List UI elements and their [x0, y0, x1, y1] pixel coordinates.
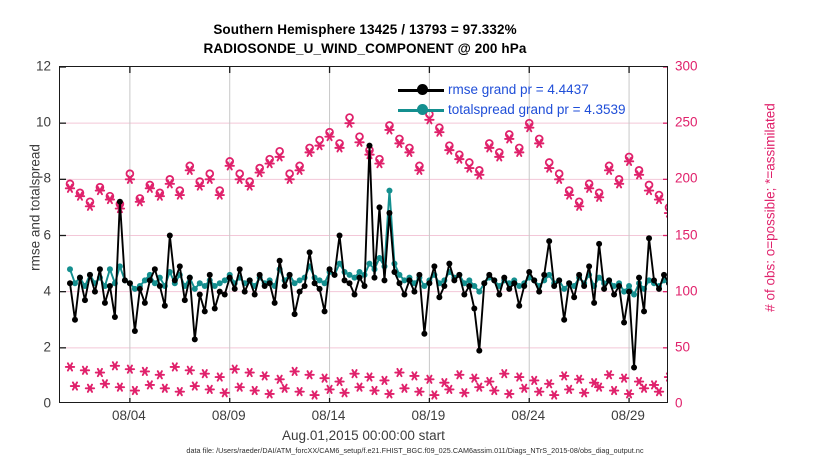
- x-tick-label: 08/24: [493, 408, 563, 423]
- x-axis-tick-labels: 08/0408/0908/1408/1908/2408/29: [59, 408, 668, 428]
- chart-title-line-2: RADIOSONDE_U_WIND_COMPONENT @ 200 hPa: [0, 41, 730, 56]
- data-file-caption: data file: /Users/raeder/DAI/ATM_forcXX/…: [0, 446, 830, 455]
- y2-tick-label: 100: [675, 283, 721, 298]
- x-tick-label: 08/04: [94, 408, 164, 423]
- y2-axis-label: # of obs: o=possible; *=assimilated: [763, 43, 778, 373]
- y2-tick-label: 200: [675, 171, 721, 186]
- y2-tick-label: 150: [675, 227, 721, 242]
- x-tick-label: 08/09: [194, 408, 264, 423]
- legend-item[interactable]: rmse grand pr = 4.4437: [396, 80, 658, 99]
- legend-label: totalspread grand pr = 4.3539: [448, 100, 626, 119]
- y-tick-label: 12: [11, 59, 51, 74]
- legend-item[interactable]: totalspread grand pr = 4.3539: [396, 100, 658, 119]
- legend-marker-icon: [417, 84, 428, 95]
- y2-tick-label: 300: [675, 59, 721, 74]
- y-tick-label: 0: [11, 396, 51, 411]
- y2-tick-label: 250: [675, 115, 721, 130]
- chart-screenshot: Southern Hemisphere 13425 / 13793 = 97.3…: [0, 0, 830, 470]
- y-axis-label: rmse and totalspread: [28, 78, 43, 338]
- chart-title-line-1: Southern Hemisphere 13425 / 13793 = 97.3…: [0, 22, 730, 37]
- x-tick-label: 08/14: [294, 408, 364, 423]
- y2-tick-label: 0: [675, 396, 721, 411]
- x-tick-label: 08/29: [593, 408, 663, 423]
- legend: rmse grand pr = 4.4437totalspread grand …: [396, 80, 658, 120]
- y-tick-label: 2: [11, 339, 51, 354]
- y2-axis-tick-labels: 050100150200250300: [675, 66, 721, 403]
- legend-marker-icon: [417, 104, 428, 115]
- x-axis-label: Aug.01,2015 00:00:00 start: [59, 428, 668, 443]
- y2-tick-label: 50: [675, 339, 721, 354]
- x-tick-label: 08/19: [393, 408, 463, 423]
- legend-label: rmse grand pr = 4.4437: [448, 80, 589, 99]
